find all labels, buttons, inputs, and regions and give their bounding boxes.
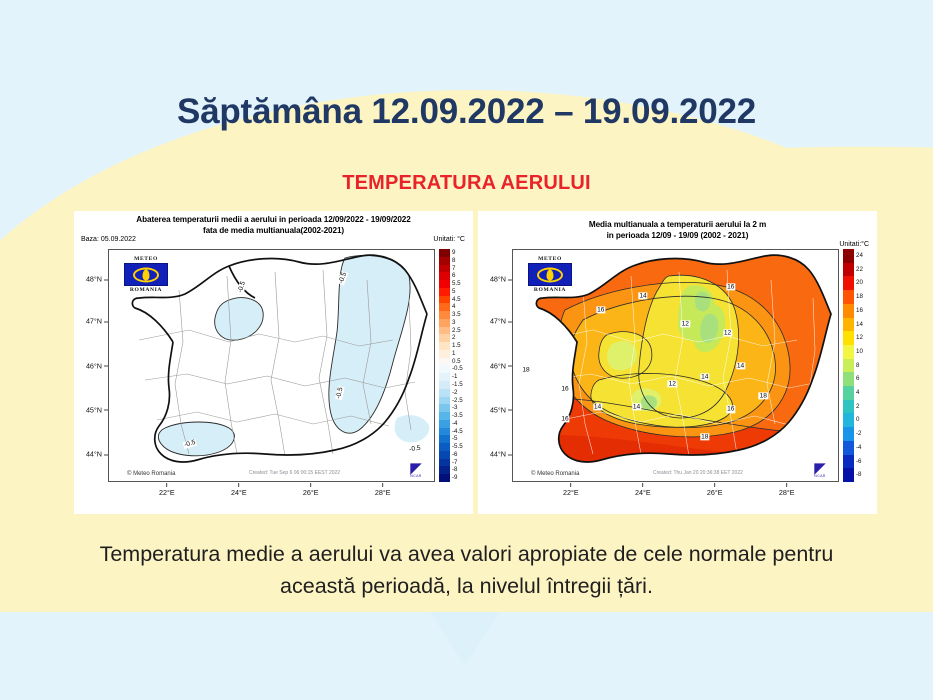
colorbar-swatch	[439, 381, 450, 389]
left-colorbar-swatches	[439, 249, 450, 482]
colorbar-tick-label: 7	[452, 265, 463, 273]
colorbar-swatch	[843, 455, 854, 469]
colorbar-swatch	[439, 428, 450, 436]
colorbar-tick-label: 5.5	[452, 280, 463, 288]
right-map-title: Media multianuala a temperaturii aerului…	[478, 211, 877, 241]
colorbar-swatch	[439, 334, 450, 342]
colorbar-swatch	[439, 451, 450, 459]
colorbar-tick-label: -8	[856, 468, 863, 482]
right-contour-label: 18	[700, 433, 709, 440]
right-map-units-label: Unitati:°C	[839, 241, 869, 248]
colorbar-swatch	[439, 443, 450, 451]
logo-bottom-text: ROMANIA	[124, 287, 168, 293]
right-contour-label: 14	[638, 293, 647, 300]
right-map-plot: 14 16 16 12 12 14 16 18 12 14 14 14 16 1…	[512, 249, 839, 482]
colorbar-tick-label: 12	[856, 331, 863, 345]
colorbar-tick-label: 4	[856, 386, 863, 400]
right-map-lon-axis: 22°E 24°E 26°E 28°E	[512, 483, 839, 505]
colorbar-tick-label: 5	[452, 288, 463, 296]
right-contour-label: 16	[560, 385, 569, 392]
colorbar-tick-label: 22	[856, 263, 863, 277]
right-map-lat-axis: 48°N 47°N 46°N 45°N 44°N	[478, 249, 512, 482]
lon-tick: 26°E	[707, 483, 723, 497]
colorbar-tick-label: -1.5	[452, 381, 463, 389]
lat-tick: 47°N	[490, 317, 512, 326]
colorbar-tick-label: 9	[452, 249, 463, 257]
colorbar-tick-label: 6	[856, 372, 863, 386]
right-contour-label: 16	[726, 406, 735, 413]
section-subtitle: TEMPERATURA AERULUI	[0, 172, 933, 195]
left-map-plot: -0.5 -0.5 -0.5 -0.5 -0.5 METEO ROMANIA ©…	[108, 249, 435, 482]
colorbar-tick-label: -5	[452, 435, 463, 443]
logo-top-text: METEO	[124, 256, 168, 262]
colorbar-tick-label: -4	[452, 420, 463, 428]
lon-tick: 22°E	[159, 483, 175, 497]
right-contour-label: 14	[736, 362, 745, 369]
right-contour-label: 12	[681, 320, 690, 327]
colorbar-tick-label: 8	[856, 359, 863, 373]
colorbar-swatch	[843, 372, 854, 386]
ncar-logo: ◤ NCAR	[403, 463, 429, 478]
colorbar-swatch	[439, 420, 450, 428]
ncar-glyph-icon: ◤	[403, 463, 429, 474]
colorbar-tick-label: 2	[856, 400, 863, 414]
right-contour-label: 12	[668, 380, 677, 387]
lon-tick: 28°E	[779, 483, 795, 497]
logo-emblem	[528, 263, 572, 286]
colorbar-tick-label: 8	[452, 257, 463, 265]
colorbar-swatch	[439, 342, 450, 350]
colorbar-tick-label: 1	[452, 350, 463, 358]
colorbar-tick-label: 3.5	[452, 311, 463, 319]
colorbar-tick-label: 4	[452, 303, 463, 311]
right-contour-label: 16	[560, 415, 569, 422]
colorbar-swatch	[439, 319, 450, 327]
page-title: Săptămâna 12.09.2022 – 19.09.2022	[0, 92, 933, 132]
logo-emblem	[124, 263, 168, 286]
colorbar-tick-label: 2	[452, 334, 463, 342]
ncar-label: NCAR	[403, 474, 429, 478]
right-contour-label: 14	[632, 403, 641, 410]
meteo-romania-logo: METEO ROMANIA	[124, 256, 168, 293]
colorbar-tick-label: 18	[856, 290, 863, 304]
left-map-units-label: Unitati: °C	[433, 236, 465, 243]
left-map-title: Abaterea temperaturii medii a aerului in…	[74, 211, 473, 236]
colorbar-swatch	[439, 459, 450, 467]
colorbar-swatch	[843, 263, 854, 277]
colorbar-tick-label: -2	[452, 389, 463, 397]
colorbar-tick-label: -5.5	[452, 443, 463, 451]
colorbar-swatch	[843, 359, 854, 373]
colorbar-swatch	[439, 404, 450, 412]
colorbar-swatch	[439, 397, 450, 405]
right-contour-label: 16	[596, 306, 605, 313]
colorbar-swatch	[439, 280, 450, 288]
lat-tick: 48°N	[490, 275, 512, 284]
colorbar-swatch	[439, 350, 450, 358]
colorbar-swatch	[843, 413, 854, 427]
right-map-title-line1: Media multianuala a temperaturii aerului…	[478, 219, 877, 230]
colorbar-swatch	[439, 474, 450, 482]
colorbar-swatch	[843, 441, 854, 455]
colorbar-swatch	[439, 327, 450, 335]
right-colorbar-swatches	[843, 249, 854, 482]
right-map-panel: Media multianuala a temperaturii aerului…	[478, 211, 877, 514]
lat-tick: 45°N	[490, 405, 512, 414]
right-map-credit: © Meteo Romania	[531, 471, 579, 477]
lon-tick: 26°E	[303, 483, 319, 497]
left-map-lon-axis: 22°E 24°E 26°E 28°E	[108, 483, 435, 505]
colorbar-tick-label: -3.5	[452, 412, 463, 420]
colorbar-swatch	[843, 386, 854, 400]
logo-top-text: METEO	[528, 256, 572, 262]
colorbar-swatch	[439, 389, 450, 397]
right-contour-label: 18	[759, 392, 768, 399]
right-contour-label: 16	[726, 283, 735, 290]
colorbar-swatch	[439, 296, 450, 304]
colorbar-tick-label: -3	[452, 404, 463, 412]
lon-tick: 22°E	[563, 483, 579, 497]
colorbar-tick-label: -8	[452, 466, 463, 474]
right-colorbar-labels: 242220181614121086420-2-4-6-8	[856, 249, 863, 482]
logo-drop-shape	[547, 270, 554, 281]
lat-tick: 47°N	[86, 317, 108, 326]
logo-bottom-text: ROMANIA	[528, 287, 572, 293]
colorbar-swatch	[843, 331, 854, 345]
colorbar-tick-label: 2.5	[452, 327, 463, 335]
left-map-lat-axis: 48°N 47°N 46°N 45°N 44°N	[74, 249, 108, 482]
colorbar-swatch	[843, 427, 854, 441]
colorbar-tick-label: 4.5	[452, 296, 463, 304]
slide-caption: Temperatura medie a aerului va avea valo…	[70, 538, 863, 603]
colorbar-swatch	[439, 311, 450, 319]
colorbar-swatch	[439, 272, 450, 280]
colorbar-swatch	[439, 466, 450, 474]
colorbar-tick-label: 0.5	[452, 358, 463, 366]
colorbar-tick-label: 6	[452, 272, 463, 280]
ncar-logo: ◤ NCAR	[807, 463, 833, 478]
colorbar-swatch	[439, 288, 450, 296]
colorbar-tick-label: -7	[452, 459, 463, 467]
colorbar-swatch	[439, 358, 450, 366]
colorbar-swatch	[843, 318, 854, 332]
lat-tick: 48°N	[86, 275, 108, 284]
colorbar-swatch	[843, 345, 854, 359]
colorbar-tick-label: 16	[856, 304, 863, 318]
colorbar-swatch	[439, 373, 450, 381]
left-map-meta: Baza: 05.09.2022 Unitati: °C	[74, 236, 473, 248]
colorbar-tick-label: -2	[856, 427, 863, 441]
colorbar-swatch	[439, 435, 450, 443]
colorbar-tick-label: -6	[452, 451, 463, 459]
lon-tick: 24°E	[231, 483, 247, 497]
left-map-title-line1: Abaterea temperaturii medii a aerului in…	[74, 214, 473, 225]
colorbar-tick-label: -1	[452, 373, 463, 381]
lat-tick: 45°N	[86, 405, 108, 414]
colorbar-swatch	[843, 468, 854, 482]
colorbar-swatch	[439, 412, 450, 420]
colorbar-swatch	[439, 265, 450, 273]
colorbar-tick-label: -4	[856, 441, 863, 455]
colorbar-tick-label: 3	[452, 319, 463, 327]
colorbar-swatch	[439, 257, 450, 265]
colorbar-tick-label: 20	[856, 276, 863, 290]
ncar-glyph-icon: ◤	[807, 463, 833, 474]
left-map-credit: © Meteo Romania	[127, 471, 175, 477]
left-map-created: Created: Tue Sep 6 06:00:15 EEST 2022	[249, 470, 340, 476]
colorbar-swatch	[843, 249, 854, 263]
right-contour-label: 18	[521, 366, 530, 373]
colorbar-tick-label: 14	[856, 318, 863, 332]
colorbar-tick-label: 0	[856, 413, 863, 427]
colorbar-tick-label: 1.5	[452, 342, 463, 350]
right-contour-label: 12	[723, 330, 732, 337]
left-map-title-line2: fata de media multianuala(2002-2021)	[74, 225, 473, 236]
meteo-romania-logo: METEO ROMANIA	[528, 256, 572, 293]
colorbar-tick-label: 24	[856, 249, 863, 263]
lat-tick: 46°N	[86, 361, 108, 370]
left-contour-label: -0.5	[407, 444, 421, 453]
colorbar-tick-label: -9	[452, 474, 463, 482]
colorbar-swatch	[439, 365, 450, 373]
right-map-created: Created: Thu Jan 20 20:36:38 EET 2022	[653, 470, 743, 476]
colorbar-swatch	[843, 400, 854, 414]
right-contour-label: 14	[593, 403, 602, 410]
colorbar-tick-label: -0.5	[452, 365, 463, 373]
lat-tick: 44°N	[490, 450, 512, 459]
lon-tick: 28°E	[375, 483, 391, 497]
colorbar-swatch	[439, 303, 450, 311]
colorbar-swatch	[843, 276, 854, 290]
lon-tick: 24°E	[635, 483, 651, 497]
lat-tick: 46°N	[490, 361, 512, 370]
colorbar-swatch	[843, 290, 854, 304]
colorbar-tick-label: -4.5	[452, 428, 463, 436]
colorbar-tick-label: -6	[856, 455, 863, 469]
colorbar-tick-label: 10	[856, 345, 863, 359]
colorbar-swatch	[439, 249, 450, 257]
colorbar-tick-label: -2.5	[452, 397, 463, 405]
colorbar-swatch	[843, 304, 854, 318]
ncar-label: NCAR	[807, 474, 833, 478]
right-map-title-line2: in perioada 12/09 - 19/09 (2002 - 2021)	[478, 230, 877, 241]
left-map-base-label: Baza: 05.09.2022	[81, 236, 136, 243]
lat-tick: 44°N	[86, 450, 108, 459]
right-contour-label: 14	[700, 373, 709, 380]
left-map-panel: Abaterea temperaturii medii a aerului in…	[74, 211, 473, 514]
logo-drop-shape	[143, 270, 150, 281]
left-colorbar-labels: 98765.554.543.532.521.510.5-0.5-1-1.5-2-…	[452, 249, 463, 482]
